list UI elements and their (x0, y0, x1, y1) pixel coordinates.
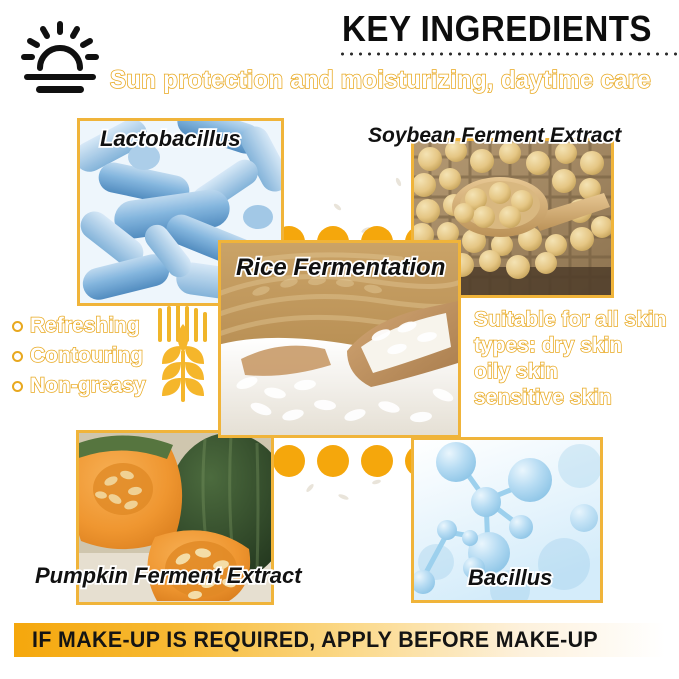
skin-types-text: Suitable for all skin types: dry skin oi… (474, 307, 674, 411)
circle-bullet-icon (12, 351, 23, 362)
skin-types-line: Suitable for all skin (474, 307, 674, 333)
decorative-dot (273, 445, 305, 477)
footer-banner-text: IF MAKE-UP IS REQUIRED, APPLY BEFORE MAK… (32, 627, 598, 653)
skin-types-line: types: dry skin (474, 333, 674, 359)
card-label-pumpkin: Pumpkin Ferment Extract (35, 563, 302, 589)
card-label-lactobacillus: Lactobacillus (100, 126, 241, 152)
benefit-label: Refreshing (30, 314, 140, 338)
list-item: Refreshing (12, 312, 146, 340)
card-label-rice: Rice Fermentation (236, 254, 445, 282)
wheat-icon (150, 306, 216, 402)
skin-types-line: oily skin (474, 359, 674, 385)
rice-fleck (305, 483, 315, 493)
dotted-divider (338, 52, 679, 56)
rice-fleck (372, 479, 382, 485)
benefits-list: Refreshing Contouring Non-greasy (12, 312, 146, 402)
decorative-dot (361, 445, 393, 477)
list-item: Contouring (12, 342, 146, 370)
circle-bullet-icon (12, 321, 23, 332)
benefit-label: Contouring (30, 344, 143, 368)
card-label-soybean: Soybean Ferment Extract (368, 124, 621, 148)
benefit-label: Non-greasy (30, 374, 146, 398)
page-subtitle: Sun protection and moisturizing, daytime… (110, 66, 653, 95)
list-item: Non-greasy (12, 372, 146, 400)
rice-fleck (333, 203, 342, 212)
page-title: KEY INGREDIENTS (336, 8, 658, 50)
rice-fleck (395, 177, 402, 187)
sunrise-icon (14, 10, 106, 102)
circle-bullet-icon (12, 381, 23, 392)
card-label-bacillus: Bacillus (468, 565, 552, 591)
key-ingredients-poster: KEY INGREDIENTS Sun protection and moist… (0, 0, 679, 679)
footer-banner: IF MAKE-UP IS REQUIRED, APPLY BEFORE MAK… (14, 623, 665, 657)
rice-fleck (338, 493, 350, 501)
skin-types-line: sensitive skin (474, 385, 674, 411)
decorative-dot (317, 445, 349, 477)
